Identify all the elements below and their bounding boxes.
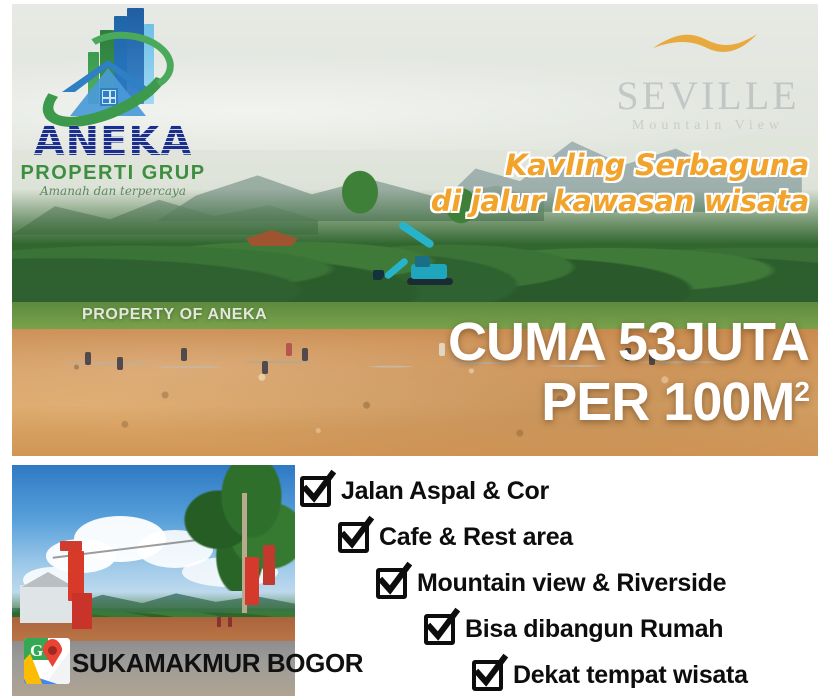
location-label: SUKAMAKMUR BOGOR — [72, 648, 363, 679]
red-banner — [263, 545, 275, 585]
feature-item: Jalan Aspal & Cor — [300, 468, 830, 514]
feature-label: Dekat tempat wisata — [513, 661, 748, 690]
excavator-icon — [395, 244, 467, 288]
palm-tree — [334, 167, 386, 223]
checkbox-checked-icon — [338, 522, 369, 553]
feature-label: Bisa dibangun Rumah — [465, 615, 723, 644]
person-figure — [228, 617, 232, 627]
worker-figure — [302, 348, 308, 361]
headline-line-2: di jalur kawasan wisata — [431, 184, 809, 220]
seville-swoosh-icon — [651, 30, 761, 56]
worker-figure — [286, 343, 292, 356]
checkbox-checked-icon — [376, 568, 407, 599]
foreground-tree — [183, 465, 295, 591]
headline-line-1: Kavling Serbaguna — [431, 148, 809, 184]
seville-name: SEVILLE — [603, 72, 813, 119]
price-unit-exponent: 2 — [794, 376, 809, 407]
seville-watermark: SEVILLE Mountain View — [603, 30, 813, 140]
feature-item: Cafe & Rest area — [338, 514, 830, 560]
worker-figure — [181, 348, 187, 361]
brand-name: ANEKA — [18, 122, 208, 162]
red-banner — [72, 593, 92, 629]
feature-label: Mountain view & Riverside — [417, 569, 726, 598]
advertisement-poster: ANEKA PROPERTI GRUP Amanah dan terpercay… — [0, 0, 835, 700]
aneka-logo: ANEKA PROPERTI GRUP Amanah dan terpercay… — [18, 14, 208, 200]
person-figure — [217, 617, 221, 627]
price-unit-prefix: PER 100M — [541, 372, 794, 432]
feature-label: Cafe & Rest area — [379, 523, 573, 552]
google-maps-icon: G — [24, 638, 70, 684]
brand-tagline: Amanah dan terpercaya — [18, 184, 208, 198]
brand-subtitle: PROPERTI GRUP — [18, 162, 208, 185]
red-banner — [245, 557, 259, 605]
feature-item: Dekat tempat wisata — [472, 652, 830, 698]
feature-item: Bisa dibangun Rumah — [424, 606, 830, 652]
photo-watermark: PROPERTY OF ANEKA — [82, 306, 267, 324]
worker-figure — [117, 357, 123, 370]
feature-checklist: Jalan Aspal & Cor Cafe & Rest area Mount… — [300, 468, 830, 696]
checkbox-checked-icon — [472, 660, 503, 691]
price-block: CUMA 53JUTA PER 100M2 — [448, 312, 809, 433]
checkbox-checked-icon — [300, 476, 331, 507]
red-banner — [60, 541, 82, 551]
price-line-2: PER 100M2 — [448, 372, 809, 432]
feature-item: Mountain view & Riverside — [376, 560, 830, 606]
worker-figure — [439, 343, 445, 356]
seville-tagline: Mountain View — [603, 118, 813, 134]
worker-figure — [85, 352, 91, 365]
building-house-logo-icon — [32, 14, 182, 126]
feature-label: Jalan Aspal & Cor — [341, 477, 549, 506]
price-line-1: CUMA 53JUTA — [448, 312, 809, 372]
worker-figure — [262, 361, 268, 374]
headline: Kavling Serbaguna di jalur kawasan wisat… — [431, 148, 809, 220]
google-g-letter: G — [30, 642, 43, 659]
checkbox-checked-icon — [424, 614, 455, 645]
